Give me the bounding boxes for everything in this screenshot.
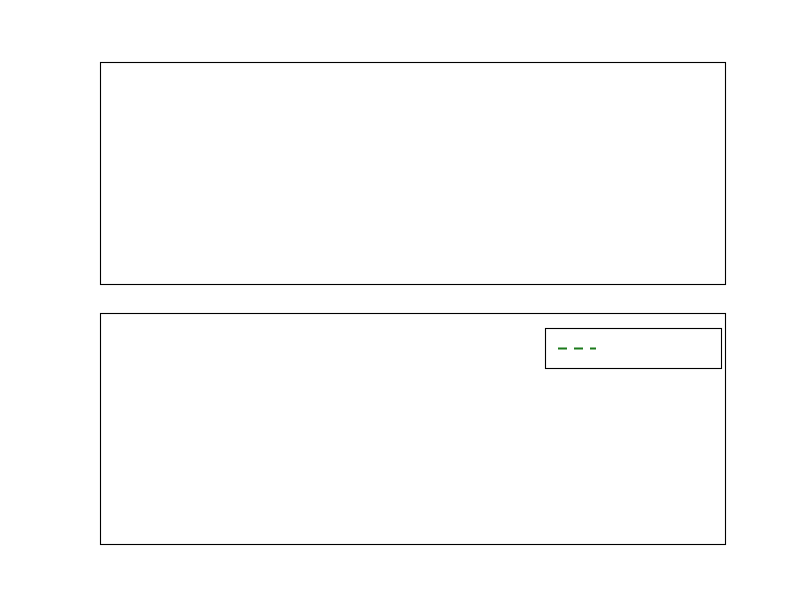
top-axes-frame	[101, 63, 726, 285]
legend[interactable]	[546, 329, 722, 369]
figure-canvas	[0, 0, 800, 600]
matplotlib-figure	[0, 0, 800, 600]
legend-frame	[546, 329, 722, 369]
differential-histogram-panel	[101, 63, 726, 285]
cumulative-histogram-panel	[0, 0, 726, 545]
